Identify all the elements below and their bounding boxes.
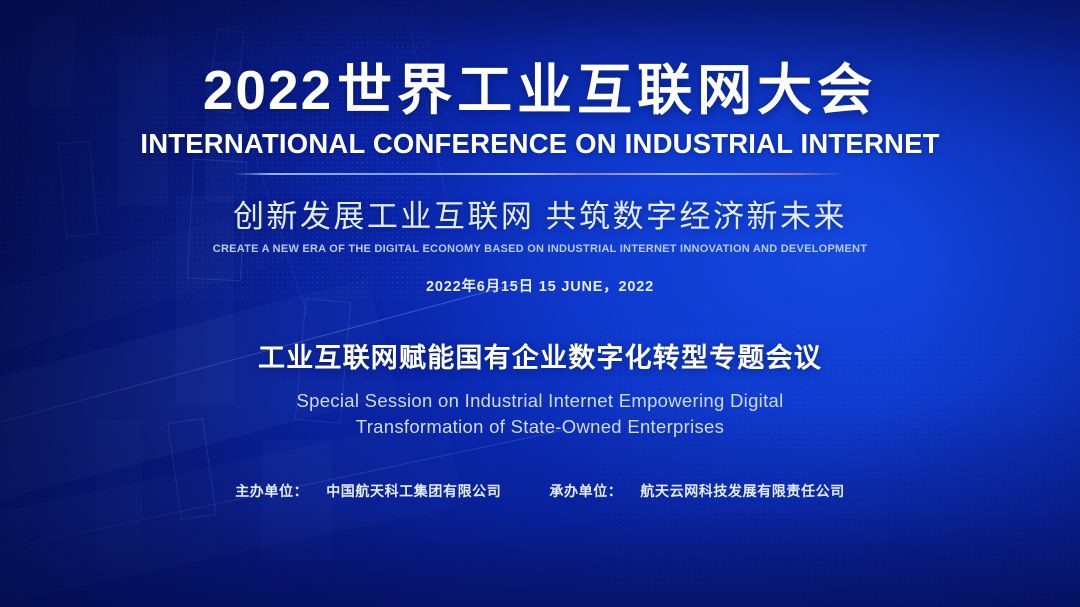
banner-content: 2022世界工业互联网大会 INTERNATIONAL CONFERENCE O… [0,0,1080,607]
conference-year: 2022 [203,59,333,121]
session-title-en-line1: Special Session on Industrial Internet E… [296,388,783,414]
organizers-row: 主办单位： 中国航天科工集团有限公司 承办单位： 航天云网科技发展有限责任公司 [235,481,845,501]
conference-title-cn: 世界工业互联网大会 [337,59,877,121]
conference-title: 2022世界工业互联网大会 [203,62,877,119]
conference-title-en: INTERNATIONAL CONFERENCE ON INDUSTRIAL I… [140,128,939,160]
organizer-co-host-value: 航天云网科技发展有限责任公司 [640,481,844,501]
conference-banner: 2022世界工业互联网大会 INTERNATIONAL CONFERENCE O… [0,0,1080,607]
organizer-co-host: 承办单位： 航天云网科技发展有限责任公司 [549,481,844,501]
organizer-host: 主办单位： 中国航天科工集团有限公司 [235,481,501,501]
organizer-host-label: 主办单位： [235,481,308,501]
divider-line [234,173,846,175]
conference-date: 2022年6月15日 15 JUNE，2022 [426,275,654,296]
session-title-en-line2: Transformation of State-Owned Enterprise… [296,414,783,440]
organizer-co-host-label: 承办单位： [549,481,622,501]
conference-slogan-cn: 创新发展工业互联网 共筑数字经济新未来 [233,191,847,236]
organizer-host-value: 中国航天科工集团有限公司 [326,481,501,501]
session-title-en: Special Session on Industrial Internet E… [296,388,783,439]
session-title-cn: 工业互联网赋能国有企业数字化转型专题会议 [258,336,822,375]
conference-slogan-en: CREATE A NEW ERA OF THE DIGITAL ECONOMY … [213,243,867,255]
